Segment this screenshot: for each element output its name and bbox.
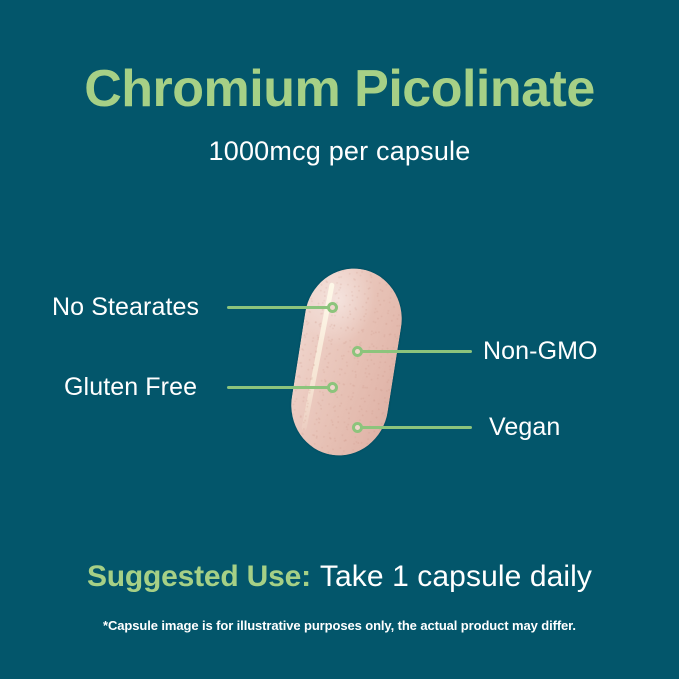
- page-title: Chromium Picolinate: [0, 62, 679, 117]
- leader-line-vegan: [360, 426, 472, 429]
- leader-dot-non-gmo: [352, 346, 363, 357]
- leader-dot-gluten-free: [327, 382, 338, 393]
- callout-label-no-stearates: No Stearates: [52, 293, 199, 322]
- suggested-use-row: Suggested Use:Take 1 capsule daily: [0, 562, 679, 592]
- capsule-texture-overlay: [284, 262, 409, 463]
- callout-label-non-gmo: Non-GMO: [483, 337, 598, 366]
- leader-line-no-stearates: [227, 306, 332, 309]
- product-info-card: Chromium Picolinate 1000mcg per capsule …: [0, 0, 679, 679]
- leader-line-gluten-free: [227, 386, 332, 389]
- capsule-illustration: [286, 262, 406, 462]
- leader-dot-vegan: [352, 422, 363, 433]
- disclaimer-text: *Capsule image is for illustrative purpo…: [0, 618, 679, 633]
- leader-line-non-gmo: [360, 350, 472, 353]
- suggested-use-value: Take 1 capsule daily: [320, 560, 592, 593]
- callout-label-gluten-free: Gluten Free: [64, 373, 197, 402]
- callout-label-vegan: Vegan: [489, 413, 560, 442]
- leader-dot-no-stearates: [327, 302, 338, 313]
- suggested-use-label: Suggested Use:: [87, 560, 311, 593]
- product-dosage-subtitle: 1000mcg per capsule: [0, 136, 679, 167]
